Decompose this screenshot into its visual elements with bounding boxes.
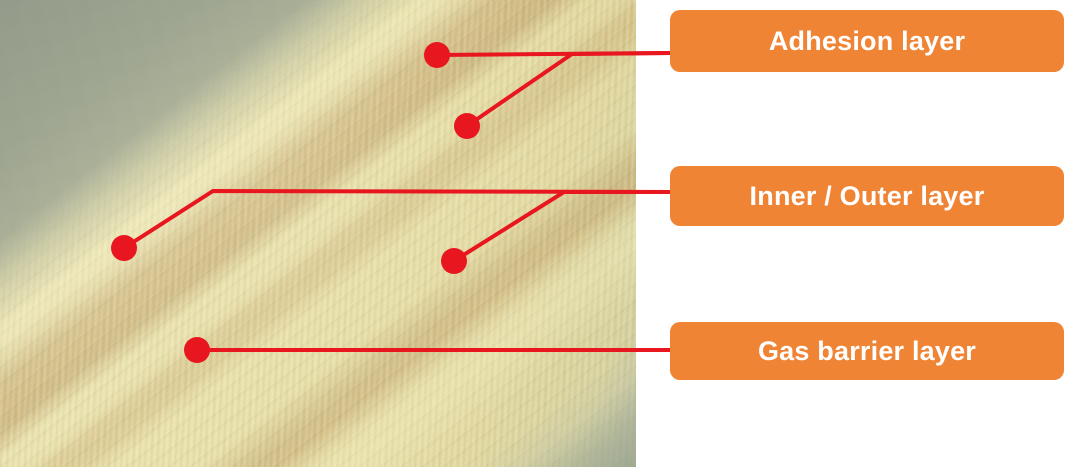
callout-gas-barrier-layer[interactable]: Gas barrier layer (670, 322, 1064, 380)
marker-dot-adhesion-layer-1[interactable] (424, 42, 450, 68)
marker-dot-adhesion-layer-2[interactable] (454, 113, 480, 139)
leader-markers (111, 42, 480, 363)
figure-root: Adhesion layer Inner / Outer layer Gas b… (0, 0, 1072, 467)
callout-label-text: Adhesion layer (769, 26, 965, 57)
leader-line-inner-outer-layer (124, 191, 670, 248)
leader-paths (124, 53, 670, 350)
marker-dot-gas-barrier-layer-1[interactable] (184, 337, 210, 363)
callout-inner-outer-layer[interactable]: Inner / Outer layer (670, 166, 1064, 226)
callout-label-text: Inner / Outer layer (750, 181, 985, 212)
callout-label-text: Gas barrier layer (758, 336, 976, 367)
leader-line-adhesion-layer (467, 53, 670, 126)
callout-adhesion-layer[interactable]: Adhesion layer (670, 10, 1064, 72)
leader-line-inner-outer-layer (454, 192, 670, 261)
marker-dot-inner-outer-layer-2[interactable] (441, 248, 467, 274)
marker-dot-inner-outer-layer-1[interactable] (111, 235, 137, 261)
